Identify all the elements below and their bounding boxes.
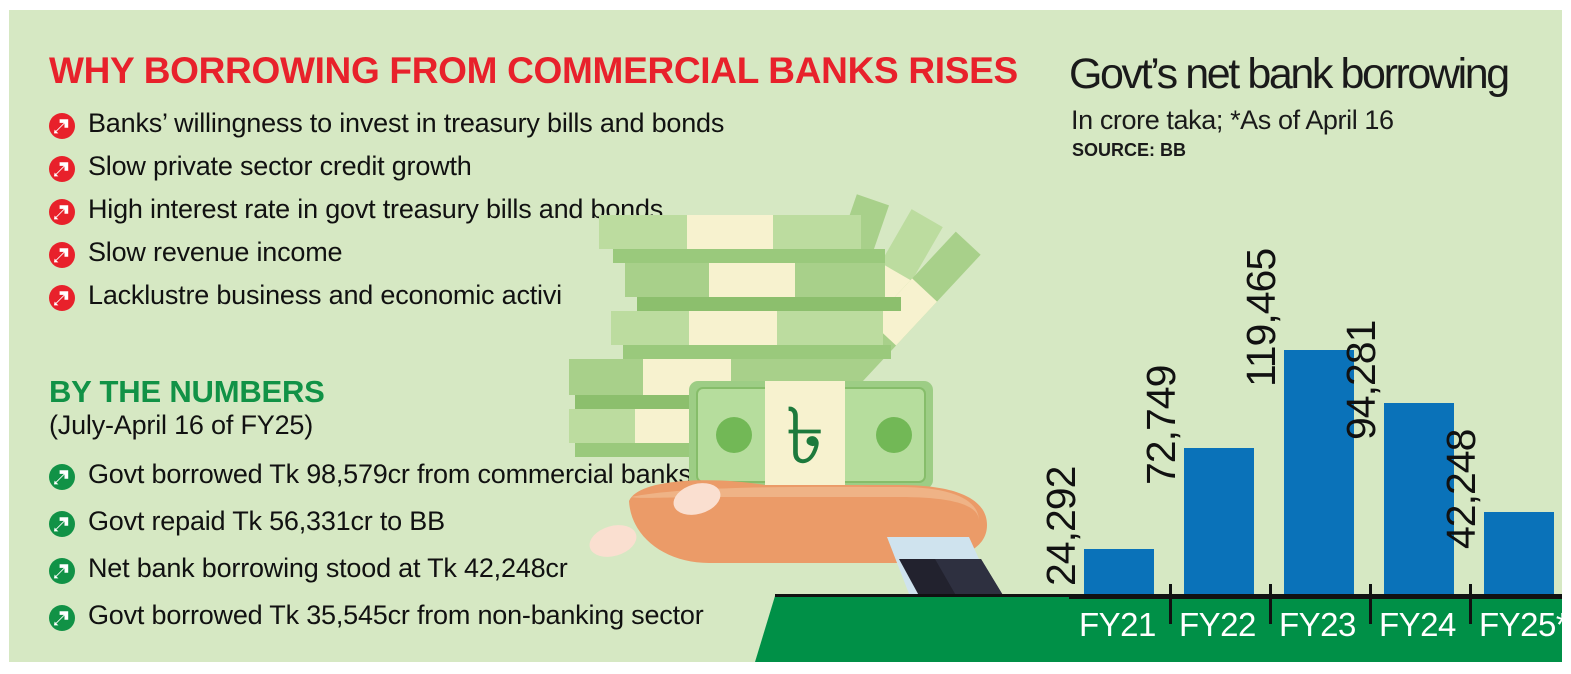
bar-FY22 [1184, 448, 1254, 600]
bar-FY25 [1484, 512, 1554, 600]
x-axis-tick [1269, 584, 1272, 624]
taka-banknote-icon: ৳ [689, 381, 933, 489]
bullet-text: Net bank borrowing stood at Tk 42,248cr [88, 553, 567, 583]
bullet-text: Lacklustre business and economic activi [88, 280, 562, 310]
bar-value-label: 24,292 [1038, 467, 1085, 586]
x-axis-label-FY25: FY25* [1479, 606, 1562, 644]
arrow-up-right-red-icon [49, 156, 75, 182]
x-axis-labels: FY21FY22FY23FY24FY25* [1069, 596, 1562, 652]
x-axis-label-FY22: FY22 [1179, 606, 1256, 644]
chart-subtitle: In crore taka; *As of April 16 [1071, 105, 1394, 136]
x-axis-tick [1369, 584, 1372, 624]
infographic-root: WHY BORROWING FROM COMMERCIAL BANKS RISE… [0, 0, 1571, 674]
why-bullet-item: Banks’ willingness to invest in treasury… [49, 108, 724, 139]
arrow-up-right-red-icon [49, 199, 75, 225]
bullet-text: Slow private sector credit growth [88, 151, 472, 181]
arrow-up-right-green-icon [49, 558, 75, 584]
svg-text:৳: ৳ [786, 392, 825, 482]
x-axis-label-FY24: FY24 [1379, 606, 1456, 644]
bar-value-label: 94,281 [1338, 321, 1385, 440]
bullet-text: Banks’ willingness to invest in treasury… [88, 108, 724, 138]
bar-value-label: 42,248 [1438, 430, 1485, 549]
chart-source: SOURCE: BB [1072, 140, 1186, 161]
x-axis-label-FY23: FY23 [1279, 606, 1356, 644]
by-the-numbers-note: (July-April 16 of FY25) [49, 410, 313, 441]
arrow-up-right-green-icon [49, 464, 75, 490]
bar-value-label: 119,465 [1238, 249, 1285, 387]
arrow-up-right-red-icon [49, 285, 75, 311]
arrow-up-right-red-icon [49, 242, 75, 268]
bullet-text: Govt repaid Tk 56,331cr to BB [88, 506, 445, 536]
x-axis-label-FY21: FY21 [1079, 606, 1156, 644]
bullet-text: Slow revenue income [88, 237, 342, 267]
x-axis-tick [1469, 584, 1472, 624]
why-bullet-item: Slow private sector credit growth [49, 151, 724, 182]
x-axis-tick [1169, 584, 1172, 624]
arrow-up-right-red-icon [49, 113, 75, 139]
headline: WHY BORROWING FROM COMMERCIAL BANKS RISE… [49, 50, 1018, 92]
chart-title: Govt’s net bank borrowing [1069, 50, 1508, 99]
infographic-panel: WHY BORROWING FROM COMMERCIAL BANKS RISE… [9, 10, 1562, 662]
bar-chart-plot: 24,29272,749119,46594,28142,248 [1069, 160, 1562, 600]
arrow-up-right-green-icon [49, 511, 75, 537]
by-the-numbers-heading: BY THE NUMBERS [49, 374, 325, 410]
money-hand-illustration: ৳ [569, 185, 1029, 625]
bar-value-label: 72,749 [1138, 366, 1185, 485]
